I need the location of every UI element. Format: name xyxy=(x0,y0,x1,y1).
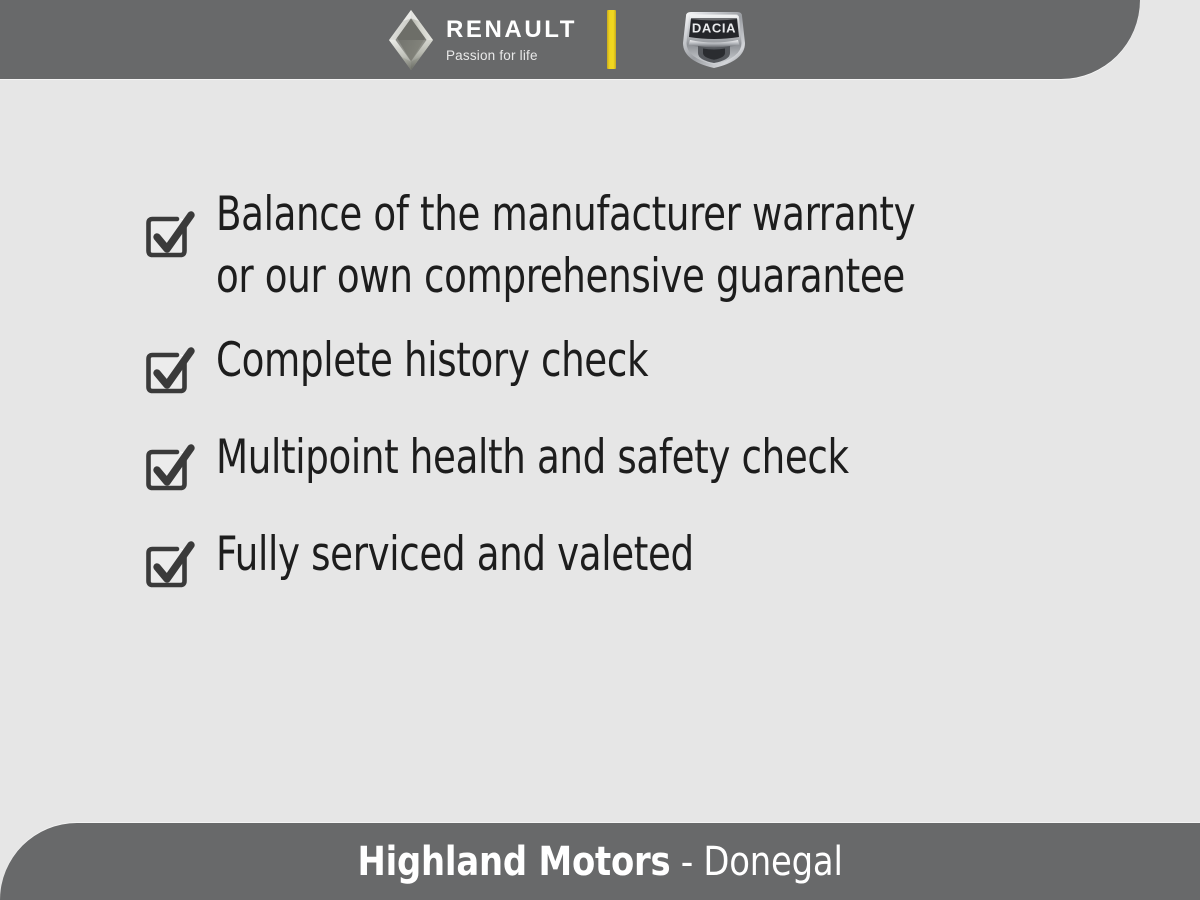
renault-name-text: RENAULT xyxy=(446,18,577,42)
renault-wordmark: RENAULT Passion for life xyxy=(446,16,577,63)
dacia-brand-block: DACIA xyxy=(676,9,752,71)
dealer-footer-bar: Highland Motors - Donegal xyxy=(0,823,1200,900)
dacia-shield-logo-icon: DACIA xyxy=(676,9,752,71)
checklist-item-label: Complete history check xyxy=(216,330,648,392)
checkbox-checked-icon xyxy=(144,330,200,405)
brand-header-bar: RENAULT Passion for life xyxy=(0,0,1140,79)
benefits-checklist: Balance of the manufacturer warranty or … xyxy=(0,80,1200,823)
checklist-item-label: Fully serviced and valeted xyxy=(216,524,694,586)
dealer-name-line: Highland Motors - Donegal xyxy=(357,839,842,885)
checkbox-checked-icon xyxy=(144,184,200,269)
checklist-item: Complete history check xyxy=(0,330,1200,405)
checklist-item-label: Multipoint health and safety check xyxy=(216,427,849,489)
checklist-item: Multipoint health and safety check xyxy=(0,427,1200,502)
renault-tagline-text: Passion for life xyxy=(446,49,538,63)
renault-diamond-logo-icon xyxy=(388,9,434,71)
checklist-item: Fully serviced and valeted xyxy=(0,524,1200,599)
dealer-name-separator: - xyxy=(670,840,703,884)
checklist-item-label: Balance of the manufacturer warranty or … xyxy=(216,184,915,308)
checkbox-checked-icon xyxy=(144,427,200,502)
checklist-item: Balance of the manufacturer warranty or … xyxy=(0,184,1200,308)
checkbox-checked-icon xyxy=(144,524,200,599)
svg-text:DACIA: DACIA xyxy=(692,20,736,35)
dealer-name-text: Highland Motors xyxy=(357,839,670,885)
brand-header-content: RENAULT Passion for life xyxy=(0,0,1140,79)
renault-brand-block: RENAULT Passion for life xyxy=(388,9,577,71)
dealer-location-text: Donegal xyxy=(703,839,842,885)
yellow-vertical-divider-icon xyxy=(607,10,616,69)
